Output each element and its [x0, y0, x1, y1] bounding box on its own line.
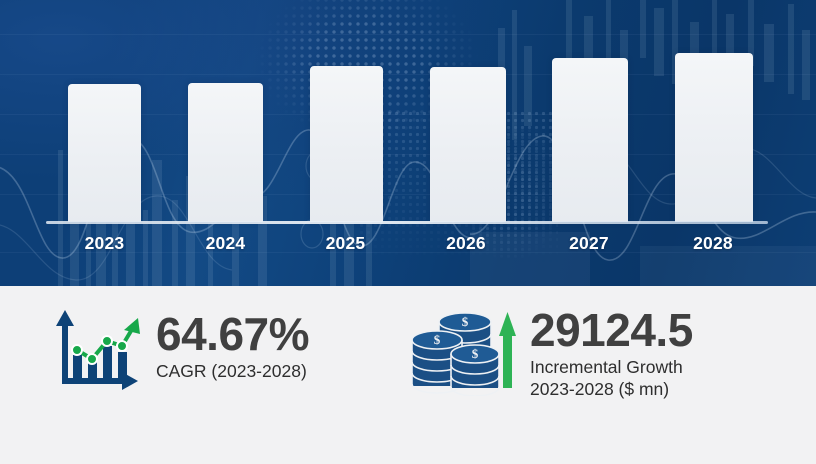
x-axis-line — [46, 221, 768, 224]
bar-2024 — [188, 83, 263, 222]
cagr-caption: CAGR (2023-2028) — [156, 360, 309, 382]
axis-label-2026: 2026 — [428, 233, 504, 254]
coin-stacks-arrow-icon: $ $ — [410, 304, 516, 401]
incremental-growth-caption: Incremental Growth 2023-2028 ($ mn) — [530, 356, 693, 400]
chart-panel: 2023 2024 2025 2026 2027 2028 — [0, 0, 816, 286]
axis-label-2028: 2028 — [674, 233, 752, 254]
axis-label-2025: 2025 — [309, 233, 382, 254]
bar-chart-plot: 2023 2024 2025 2026 2027 2028 — [0, 0, 816, 286]
incremental-growth-value: 29124.5 — [530, 304, 693, 356]
bar-2026 — [430, 67, 506, 222]
bar-2027 — [552, 58, 628, 222]
axis-label-2024: 2024 — [188, 233, 263, 254]
svg-text:$: $ — [472, 346, 479, 361]
cagr-value: 64.67% — [156, 308, 309, 360]
growth-chart-icon — [46, 308, 142, 399]
axis-label-2023: 2023 — [68, 233, 141, 254]
stat-growth-text: 29124.5 Incremental Growth 2023-2028 ($ … — [530, 304, 693, 400]
stat-cagr-text: 64.67% CAGR (2023-2028) — [156, 308, 309, 382]
bar-2023 — [68, 84, 141, 222]
stats-panel: 64.67% CAGR (2023-2028) — [0, 286, 816, 464]
stat-incremental-growth: $ $ — [410, 304, 693, 401]
bar-2028 — [675, 53, 753, 222]
svg-text:$: $ — [462, 314, 469, 329]
forecast-infographic: 2023 2024 2025 2026 2027 2028 — [0, 0, 816, 464]
svg-text:$: $ — [434, 332, 441, 347]
bar-2025 — [310, 66, 383, 222]
axis-label-2027: 2027 — [551, 233, 627, 254]
stat-cagr: 64.67% CAGR (2023-2028) — [46, 308, 309, 399]
